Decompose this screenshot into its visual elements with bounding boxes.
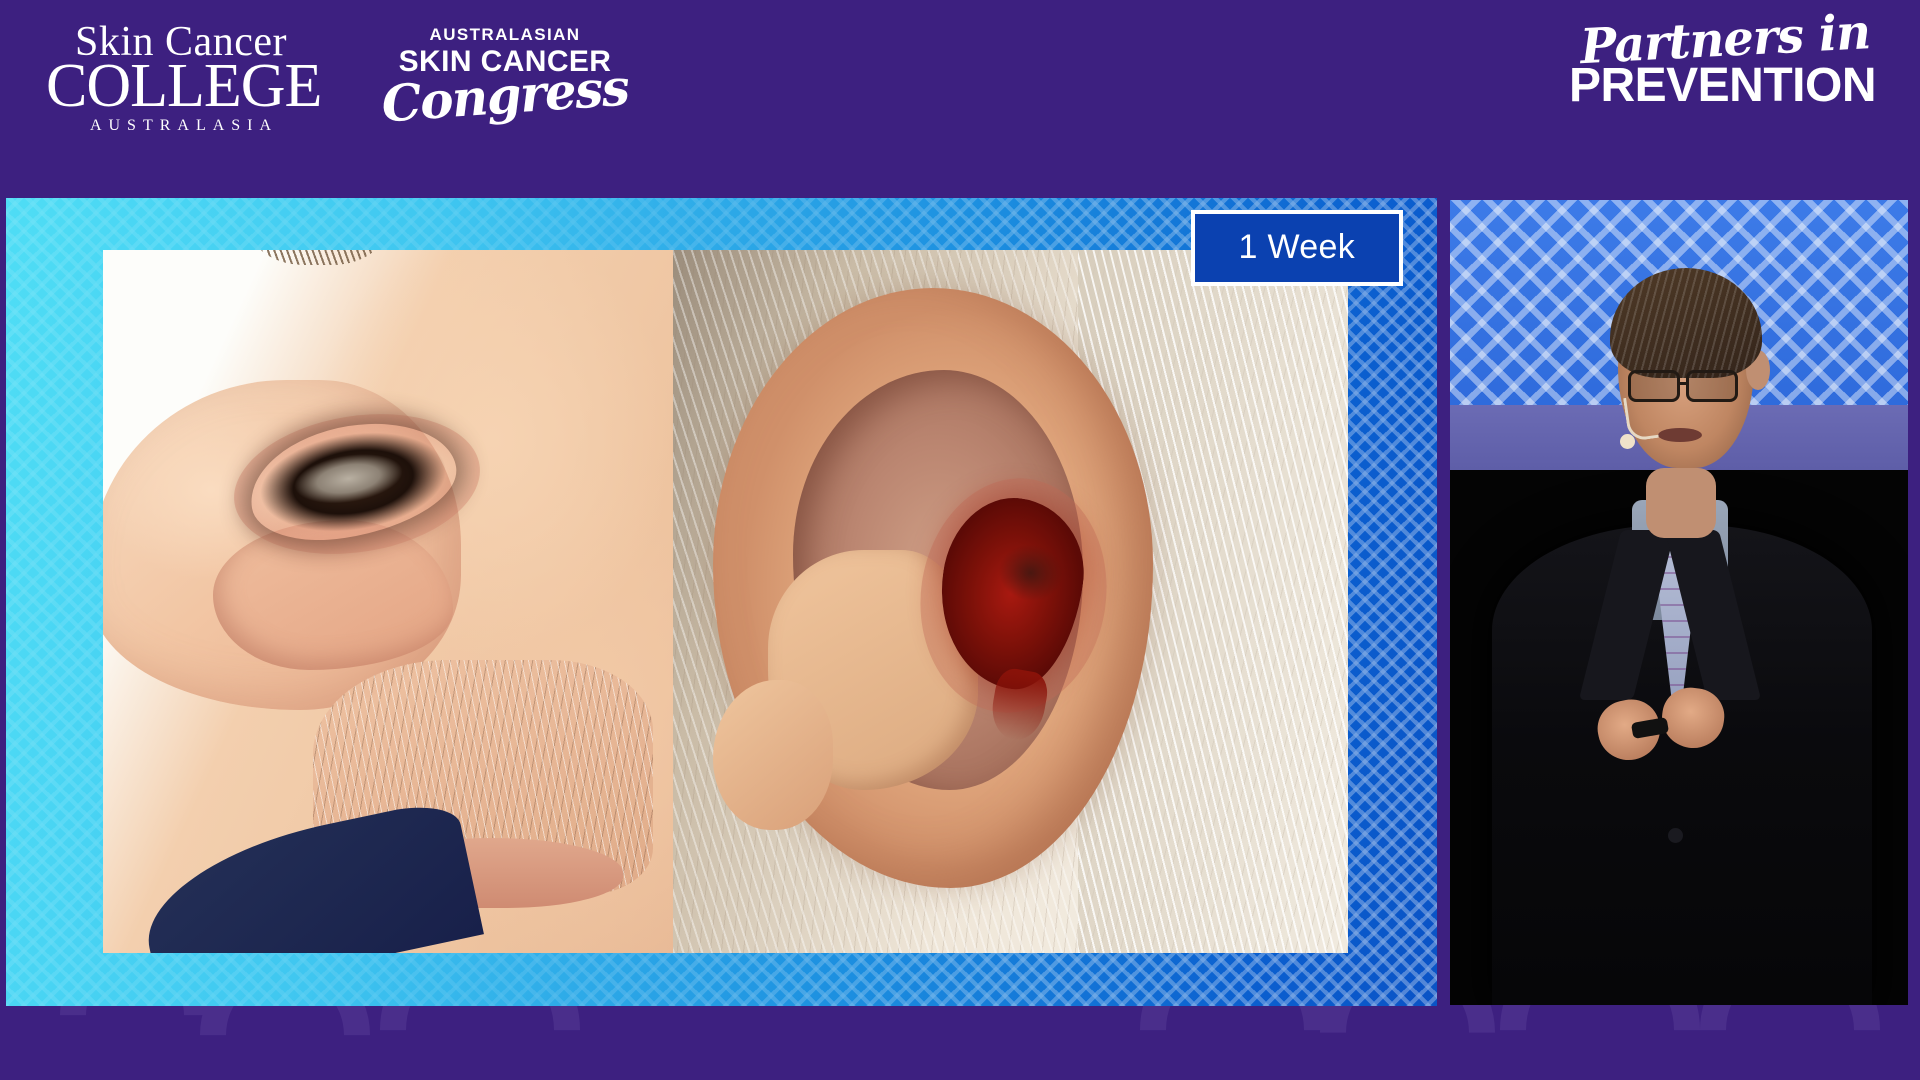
logo-skin-cancer-congress: AUSTRALASIAN SKIN CANCER Congress <box>360 26 650 119</box>
presentation-slide: 1 Week <box>6 198 1437 1006</box>
nose-lesion-photo <box>103 250 673 953</box>
college-logo-line3: AUSTRALASIA <box>46 117 316 135</box>
nose-photo-face <box>103 250 673 953</box>
logo-skin-cancer-college: Skin Cancer COLLEGE AUSTRALASIA <box>46 22 316 135</box>
speaker-headset-mic-capsule <box>1620 434 1635 449</box>
speaker-glasses-right-lens <box>1686 370 1738 402</box>
pip-logo-line1: Partners in <box>1568 8 1871 72</box>
stage-root: Skin Cancer COLLEGE AUSTRALASIA AUSTRALA… <box>0 0 1920 1080</box>
speaker-neck <box>1646 468 1716 538</box>
congress-logo-line1: AUSTRALASIAN <box>360 26 650 45</box>
ear-lesion-photo <box>673 250 1348 953</box>
nose-photo-shoulder <box>132 797 484 953</box>
logo-partners-in-prevention: Partners in PREVENTION <box>1569 16 1876 111</box>
nose-photo-eyebrow <box>253 250 383 265</box>
speaker-video-feed[interactable] <box>1450 200 1908 1005</box>
speaker-mouth <box>1658 428 1702 442</box>
slide-content-canvas <box>103 250 1348 953</box>
timepoint-badge: 1 Week <box>1191 210 1403 286</box>
congress-logo-line3: Congress <box>359 63 652 129</box>
speaker-glasses-bridge <box>1680 382 1688 385</box>
college-logo-line2: COLLEGE <box>46 58 316 115</box>
background-watermark <box>0 1000 1920 1080</box>
speaker-jacket-button <box>1668 828 1683 843</box>
header-bar: Skin Cancer COLLEGE AUSTRALASIA AUSTRALA… <box>0 0 1920 198</box>
ear-photo-tragus <box>713 680 833 830</box>
